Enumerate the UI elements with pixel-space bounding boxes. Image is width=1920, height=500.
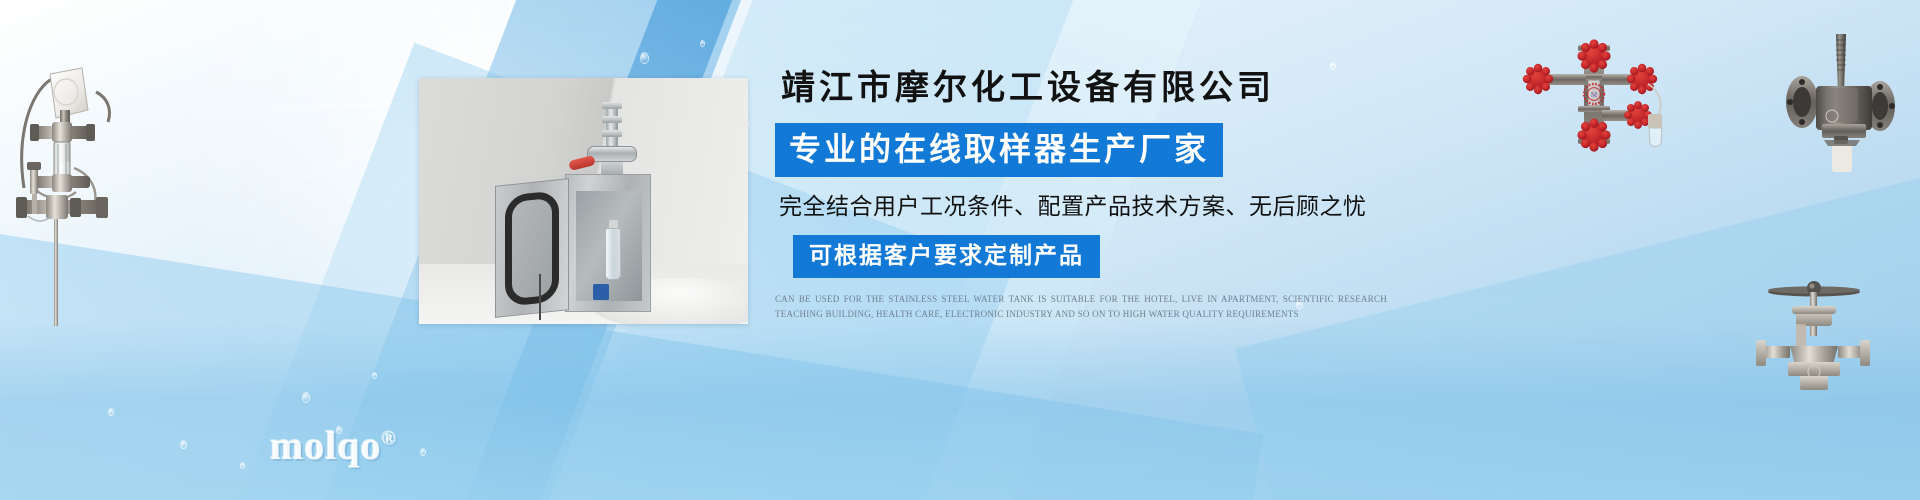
right-product-cross: M [1520, 36, 1680, 156]
headline-copy-block: 靖江市摩尔化工设备有限公司 专业的在线取样器生产厂家 完全结合用户工况条件、配置… [775, 72, 1415, 323]
right-product-gate-valve [1748, 230, 1878, 390]
subline-text: 完全结合用户工况条件、配置产品技术方案、无后顾之忧 [775, 195, 1415, 218]
svg-text:M: M [1591, 91, 1598, 99]
left-product-image [8, 40, 188, 330]
tagline-highlight-bar: 专业的在线取样器生产厂家 [775, 123, 1223, 177]
watermark-text: molqo [270, 423, 382, 468]
watermark-logo: molqo® [270, 426, 396, 466]
photo-top-valve [587, 100, 637, 184]
custom-product-highlight-bar: 可根据客户要求定制产品 [793, 235, 1100, 278]
english-description: CAN BE USED FOR THE STAINLESS STEEL WATE… [775, 292, 1387, 323]
horizon-wash [0, 320, 1920, 500]
promotional-banner: M [0, 0, 1920, 500]
right-product-lever [1776, 28, 1906, 178]
registered-trademark-icon: ® [382, 429, 396, 450]
photo-cabinet-door [495, 178, 569, 318]
company-name: 靖江市摩尔化工设备有限公司 [781, 72, 1415, 106]
photo-sample-bottle [605, 228, 621, 280]
center-product-photo [419, 78, 748, 324]
